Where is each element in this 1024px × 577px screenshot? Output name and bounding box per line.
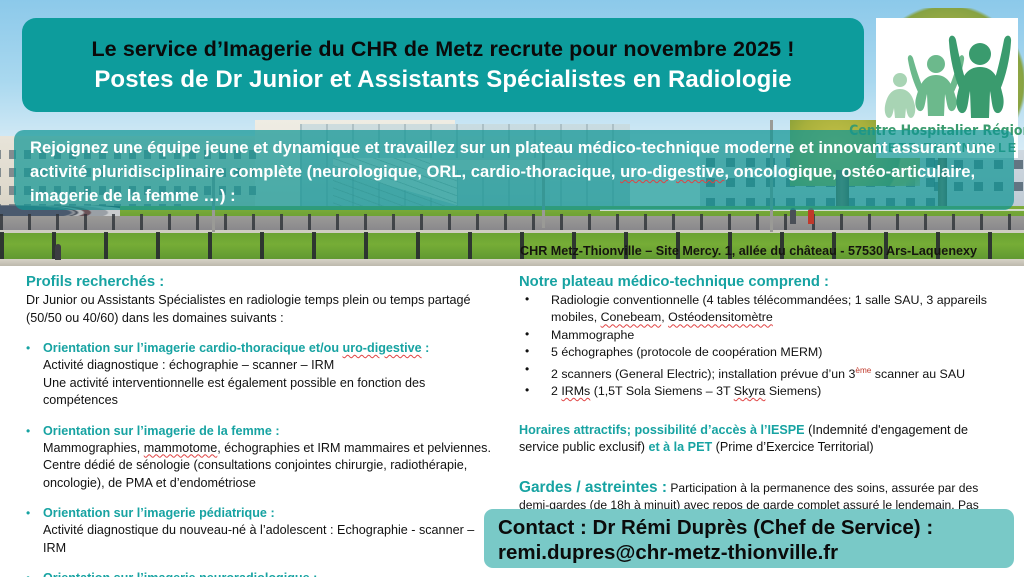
pet-text: (Prime d’Exercice Territorial) [712,440,873,454]
misspelled-word: Skyra [734,384,766,398]
orientation-heading-pre: Orientation sur l’imagerie cardio-thorac… [43,341,343,355]
contact-box[interactable]: Contact : Dr Rémi Duprès (Chef de Servic… [484,509,1014,568]
three-figures-icon [878,28,1016,124]
orientation-heading: Orientation sur l’imagerie neuroradiolog… [43,570,317,577]
orientation-heading: Orientation sur l’imagerie pédiatrique : [43,505,275,522]
bullet-icon: • [26,570,34,577]
orientation-line: Une activité interventionnelle est égale… [43,375,496,410]
headline-banner: Le service d’Imagerie du CHR de Metz rec… [22,18,864,112]
bullet-icon: • [26,423,34,440]
site-address: CHR Metz-Thionville – Site Mercy. 1, all… [520,244,1020,258]
pedestrian [790,208,796,224]
contact-email[interactable]: remi.dupres@chr-metz-thionville.fr [498,540,1014,565]
orientation-neuroradiologique: • Orientation sur l’imagerie neuroradiol… [26,570,496,577]
misspelled-word: Ostéodensitomètre [668,310,773,324]
bollard-row-far [0,214,1024,230]
orientation-line: Activité diagnostique du nouveau-né à l’… [43,522,496,557]
list-item: 2 scanners (General Electric); installat… [519,362,1011,384]
list-item: Radiologie conventionnelle (4 tables tél… [519,292,1011,327]
list-item: 5 échographes (protocole de coopération … [519,344,1011,361]
orientation-pediatrique-body: Activité diagnostique du nouveau-né à l’… [43,522,496,557]
equipment-text: Siemens) [765,384,821,398]
gardes-title: Gardes / astreintes : [519,479,667,496]
sidewalk [0,259,1024,266]
orientation-cardio-body: Activité diagnostique : échographie – sc… [43,357,496,410]
headline-secondary: Postes de Dr Junior et Assistants Spécia… [94,66,791,94]
equipment-text: scanner au SAU [871,367,965,381]
ordinal-superscript: ème [855,366,871,375]
platform-title: Notre plateau médico-technique comprend … [519,274,1011,290]
intro-callout-box: Rejoignez une équipe jeune et dynamique … [14,130,1014,210]
bullet-icon: • [26,340,34,357]
misspelled-word: IRMs [561,384,590,398]
recruitment-poster: CHR Metz-Thionville – Site Mercy. 1, all… [0,0,1024,577]
orientation-heading: Orientation sur l’imagerie cardio-thorac… [43,340,429,357]
misspelled-word: mammotome [144,441,217,455]
intro-misspelled-word: uro-digestive [620,162,724,181]
pedestrian [808,208,814,224]
list-item: Mammographe [519,327,1011,344]
orientation-imagerie-pediatrique: • Orientation sur l’imagerie pédiatrique… [26,505,496,522]
headline-primary: Le service d’Imagerie du CHR de Metz rec… [91,37,794,62]
orientation-femme-body: Mammographies, mammotome, échographies e… [43,440,496,493]
orientation-heading-post: : [422,341,430,355]
orientation-line: Mammographies, mammotome, échographies e… [43,440,496,458]
orientation-heading: Orientation sur l’imagerie de la femme : [43,423,280,440]
equipment-text: 2 scanners (General Electric); installat… [551,367,855,381]
horaires-highlight: Horaires attractifs; possibilité d’accès… [519,423,805,437]
bullet-icon: • [26,505,34,522]
equipment-list: Radiologie conventionnelle (4 tables tél… [519,292,1011,401]
orientation-imagerie-femme: • Orientation sur l’imagerie de la femme… [26,423,496,440]
contact-person: Contact : Dr Rémi Duprès (Chef de Servic… [498,515,1014,540]
equipment-text: (1,5T Sola Siemens – 3T [590,384,733,398]
profiles-intro: Dr Junior ou Assistants Spécialistes en … [26,292,496,327]
pet-highlight: et à la PET [645,440,712,454]
pedestrian [55,244,61,260]
orientation-misspelled-word: uro-digestive [343,341,422,355]
platform-column: Notre plateau médico-technique comprend … [519,274,1011,531]
misspelled-word: Conebeam [601,310,662,324]
orientation-line: Centre dédié de sénologie (consultations… [43,457,496,492]
profiles-column: Profils recherchés : Dr Junior ou Assist… [26,274,496,577]
orientation-line: Activité diagnostique : échographie – sc… [43,357,496,375]
profiles-title: Profils recherchés : [26,274,496,290]
horaires-block: Horaires attractifs; possibilité d’accès… [519,422,1011,457]
equipment-text: 2 [551,384,561,398]
intro-paragraph: Rejoignez une équipe jeune et dynamique … [30,136,1000,208]
list-item: 2 IRMs (1,5T Sola Siemens – 3T Skyra Sie… [519,383,1011,400]
orientation-cardio-thoracique: • Orientation sur l’imagerie cardio-thor… [26,340,496,357]
